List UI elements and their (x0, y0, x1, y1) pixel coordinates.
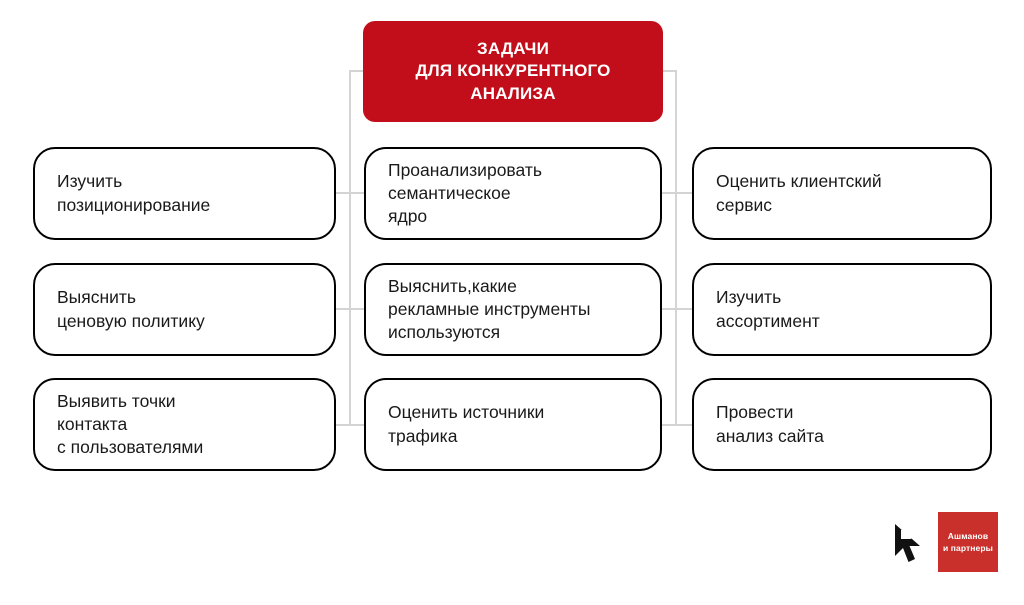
task-box-middle-1-text: Проанализировать семантическое ядро (366, 159, 554, 228)
task-line: используются (388, 321, 590, 344)
task-box-right-1[interactable]: Оценить клиентский сервис (692, 147, 992, 240)
header-title-line-3: АНАЛИЗА (415, 83, 610, 106)
task-line: Изучить (716, 286, 820, 309)
header-title-line-1: ЗАДАЧИ (415, 38, 610, 61)
connector-right-row2 (659, 308, 695, 310)
brand-logo: Ашманов и партнеры (890, 512, 998, 574)
cursor-arrow-mark-icon (890, 522, 926, 566)
task-line: ценовую политику (57, 310, 205, 333)
task-box-left-3[interactable]: Выявить точки контакта с пользователями (33, 378, 336, 471)
logo-tile-text: Ашманов и партнеры (943, 530, 993, 555)
task-box-middle-1[interactable]: Проанализировать семантическое ядро (364, 147, 662, 240)
task-line: сервис (716, 194, 882, 217)
task-line: Выяснить (57, 286, 205, 309)
task-line: трафика (388, 425, 544, 448)
task-box-middle-3[interactable]: Оценить источники трафика (364, 378, 662, 471)
task-line: Проанализировать (388, 159, 542, 182)
task-line: Выявить точки (57, 390, 203, 413)
header-title-line-2: ДЛЯ КОНКУРЕНТНОГО (415, 60, 610, 83)
logo-tile: Ашманов и партнеры (938, 512, 998, 572)
diagram-header-box: ЗАДАЧИ ДЛЯ КОНКУРЕНТНОГО АНАЛИЗА (363, 21, 663, 122)
task-line: рекламные инструменты (388, 298, 590, 321)
task-box-middle-2-text: Выяснить,какие рекламные инструменты исп… (366, 275, 602, 344)
task-line: Провести (716, 401, 824, 424)
task-box-right-3-text: Провести анализ сайта (694, 401, 836, 447)
connector-right-row3 (659, 424, 695, 426)
task-line: контакта (57, 413, 203, 436)
connector-right-spine (675, 70, 677, 426)
connector-left-spine (349, 70, 351, 426)
task-box-left-3-text: Выявить точки контакта с пользователями (35, 390, 215, 459)
logo-line-2: и партнеры (943, 542, 993, 554)
task-line: семантическое (388, 182, 542, 205)
task-line: ассортимент (716, 310, 820, 333)
task-box-left-1[interactable]: Изучить позиционирование (33, 147, 336, 240)
task-box-middle-2[interactable]: Выяснить,какие рекламные инструменты исп… (364, 263, 662, 356)
diagram-canvas: ЗАДАЧИ ДЛЯ КОНКУРЕНТНОГО АНАЛИЗА Изучить… (0, 0, 1024, 605)
connector-right-row1 (659, 192, 695, 194)
diagram-header-title: ЗАДАЧИ ДЛЯ КОНКУРЕНТНОГО АНАЛИЗА (405, 38, 620, 106)
task-box-right-2[interactable]: Изучить ассортимент (692, 263, 992, 356)
task-line: Оценить клиентский (716, 170, 882, 193)
task-line: Изучить (57, 170, 210, 193)
task-box-middle-3-text: Оценить источники трафика (366, 401, 556, 447)
logo-line-1: Ашманов (943, 530, 993, 542)
task-line: Выяснить,какие (388, 275, 590, 298)
task-line: ядро (388, 205, 542, 228)
task-box-right-1-text: Оценить клиентский сервис (694, 170, 894, 216)
task-line: с пользователями (57, 436, 203, 459)
task-box-left-1-text: Изучить позиционирование (35, 170, 222, 216)
task-box-right-2-text: Изучить ассортимент (694, 286, 832, 332)
task-box-left-2[interactable]: Выяснить ценовую политику (33, 263, 336, 356)
task-box-right-3[interactable]: Провести анализ сайта (692, 378, 992, 471)
task-line: Оценить источники (388, 401, 544, 424)
task-line: анализ сайта (716, 425, 824, 448)
task-line: позиционирование (57, 194, 210, 217)
task-box-left-2-text: Выяснить ценовую политику (35, 286, 217, 332)
